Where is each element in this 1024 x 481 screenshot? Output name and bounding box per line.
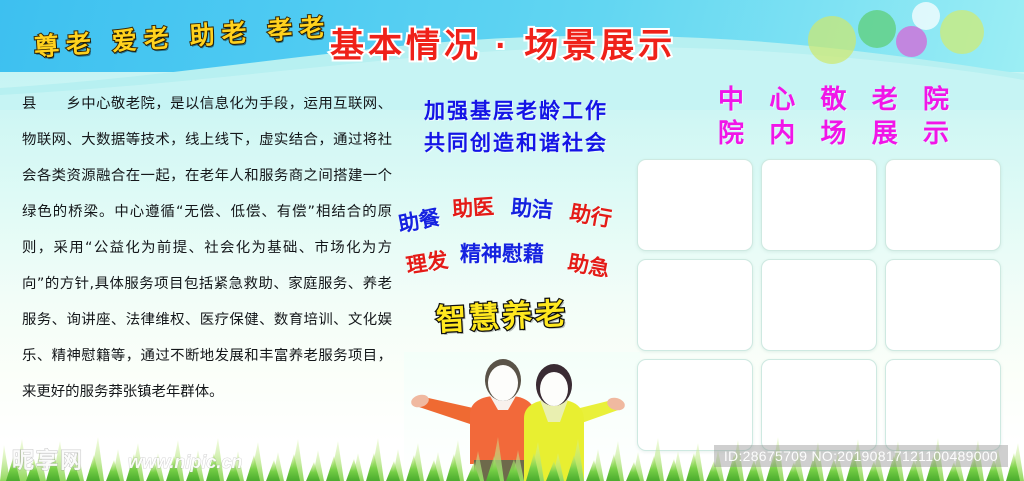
photo-slot-3[interactable] [885, 159, 1001, 251]
watermark-id: ID:28675709 NO:20190817121100489000 [714, 445, 1008, 467]
service-item-4: 理发 [404, 244, 450, 280]
bubble-magenta-icon [896, 26, 927, 57]
watermark-url: www.nipic.cn [128, 452, 242, 473]
body-paragraph: 县 乡中心敬老院，是以信息化为手段，运用互联网、物联网、大数据等技术，线上线下，… [22, 86, 392, 410]
middle-slogan: 加强基层老龄工作 共同创造和谐社会 [392, 96, 640, 160]
page-title: 基本情况 · 场景展示 [330, 18, 676, 67]
middle-slogan-line2: 共同创造和谐社会 [392, 128, 640, 160]
photo-slot-1[interactable] [637, 159, 753, 251]
photo-slot-4[interactable] [637, 259, 753, 351]
service-item-5: 精神慰藉 [460, 238, 544, 268]
watermark-logo: 昵享网 [12, 443, 84, 475]
bubble-white-icon [912, 2, 940, 30]
photo-slot-6[interactable] [885, 259, 1001, 351]
service-item-0: 助餐 [396, 201, 443, 238]
photo-slot-2[interactable] [761, 159, 877, 251]
service-item-6: 助急 [566, 247, 613, 284]
wisdom-headline: 智慧养老 [435, 289, 569, 340]
right-column-title: 中 心 敬 老 院 院 内 场 展 示 [668, 82, 1008, 150]
service-item-1: 助医 [451, 191, 495, 224]
bubble-green-icon [858, 10, 896, 48]
right-title-line1: 中 心 敬 老 院 [668, 82, 1008, 116]
middle-slogan-line1: 加强基层老龄工作 [392, 96, 640, 128]
bubble-yellow-green-icon [808, 16, 856, 64]
body-text-column: 县 乡中心敬老院，是以信息化为手段，运用互联网、物联网、大数据等技术，线上线下，… [22, 86, 392, 410]
service-item-2: 助洁 [510, 192, 554, 225]
photo-slot-5[interactable] [761, 259, 877, 351]
photo-grid [637, 159, 1009, 459]
right-title-line2: 院 内 场 展 示 [668, 116, 1008, 150]
poster-canvas: 尊老 爱老 助老 孝老 基本情况 · 场景展示 县 乡中心敬老院，是以信息化为手… [0, 0, 1024, 481]
bubble-yellow-green-2-icon [940, 10, 984, 54]
service-item-3: 助行 [568, 197, 615, 234]
